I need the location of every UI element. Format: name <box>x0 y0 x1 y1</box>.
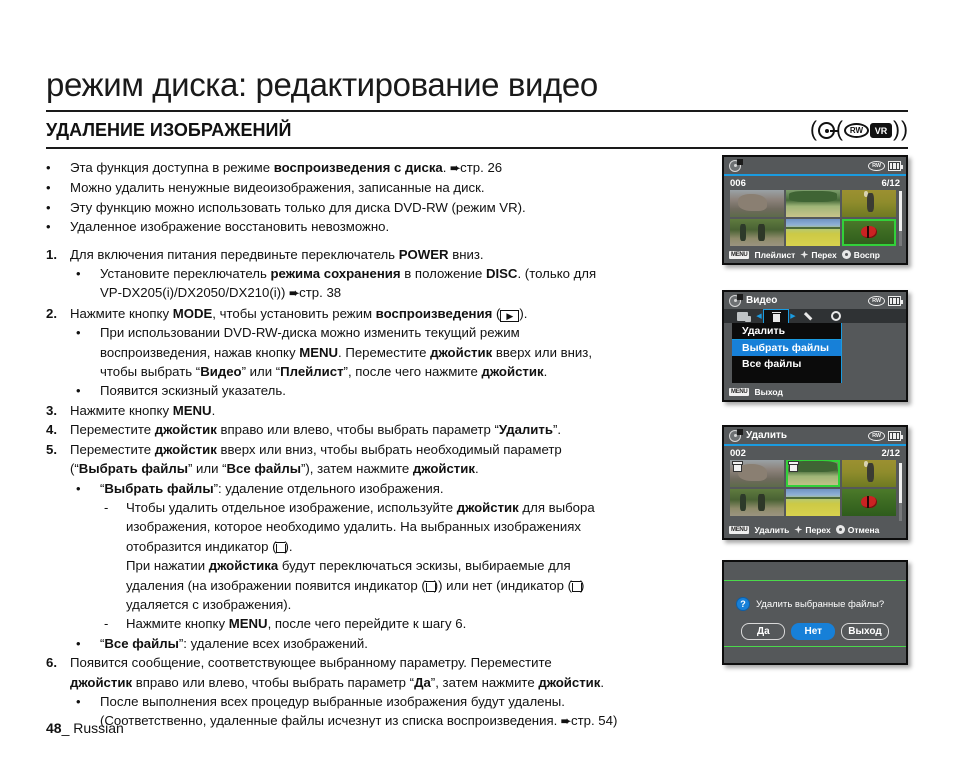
ok-button-icon <box>836 525 845 534</box>
page-position: 6/12 <box>882 178 901 189</box>
instructions-body: • Эта функция доступна в режиме воспроиз… <box>46 158 714 732</box>
page-position: 2/12 <box>882 448 901 459</box>
trash-icon <box>772 312 780 322</box>
lcd-panel-confirm-dialog: ? Удалить выбранные файлы? Да Нет Выход <box>722 560 908 665</box>
scrollbar-track[interactable] <box>899 191 902 247</box>
menu-key-icon[interactable]: MENU <box>729 526 749 534</box>
list-item-text: Можно удалить ненужные видеоизображения,… <box>70 178 714 197</box>
bullet-marker: • <box>76 479 100 498</box>
soft-key-jump[interactable]: Перех <box>794 525 830 535</box>
thumbnail-grid[interactable] <box>724 190 906 246</box>
soft-key-play[interactable]: Воспр <box>842 250 880 260</box>
list-item: • “Все файлы”: удаление всех изображений… <box>76 634 714 653</box>
menu-tab-bar[interactable]: ◀ ▶ <box>724 309 906 323</box>
tab-edit[interactable] <box>797 309 823 323</box>
disc-mode-icon <box>729 295 741 307</box>
disc-eject-icon <box>818 122 835 139</box>
soft-key-cancel[interactable]: Отмена <box>836 525 880 535</box>
thumbnail-grid[interactable] <box>724 460 906 516</box>
rw-disc-icon: RW <box>868 161 885 171</box>
step-text: Для включения питания передвиньте перекл… <box>70 245 714 264</box>
lcd-counters: 002 2/12 <box>724 446 906 460</box>
list-item: • Появится эскизный указатель. <box>76 381 714 400</box>
menu-header: Удалить <box>732 323 841 340</box>
soft-key-jump[interactable]: Перех <box>800 250 836 260</box>
outer-open-paren: ( <box>810 119 817 140</box>
joystick-icon <box>794 526 802 534</box>
dialog-buttons: Да Нет Выход <box>724 611 906 640</box>
list-item-text: Эту функцию можно использовать только дл… <box>70 198 714 217</box>
disc-mode-icon <box>729 160 741 172</box>
list-item-text: Удаленное изображение восстановить невоз… <box>70 217 714 236</box>
trash-indicator-icon <box>426 581 434 591</box>
thumbnail-item[interactable] <box>842 489 896 516</box>
thumbnail-item[interactable] <box>842 190 896 217</box>
step-text: Появится сообщение, соответствующее выбр… <box>70 653 714 692</box>
soft-key-label: Перех <box>811 250 836 260</box>
soft-key-label: Перех <box>805 525 830 535</box>
battery-icon <box>888 296 901 306</box>
lcd-counters: 006 6/12 <box>724 176 906 190</box>
lcd-panel-menu: Видео RW ◀ ▶ Удалить Выбрать файлы Все ф… <box>722 290 908 402</box>
thumbnail-item-selected[interactable] <box>842 219 896 246</box>
sub-list-item-text: Чтобы удалить отдельное изображение, исп… <box>126 498 714 614</box>
footer-language: Russian <box>73 720 124 736</box>
joystick-icon <box>800 251 808 259</box>
thumbnail-item[interactable] <box>730 489 784 516</box>
list-item: • Эта функция доступна в режиме воспроиз… <box>46 158 714 178</box>
rw-disc-icon: RW <box>868 296 885 306</box>
lcd-status-bar: Видео RW <box>724 292 906 309</box>
battery-icon <box>888 431 901 441</box>
thumbnail-item-marked[interactable] <box>730 460 784 487</box>
pencil-icon <box>805 311 816 322</box>
lcd-title: Удалить <box>746 430 787 441</box>
menu-item-all-files[interactable]: Все файлы <box>732 356 841 372</box>
step-text: Нажмите кнопку MODE, чтобы установить ре… <box>70 304 714 323</box>
list-item: • Эту функцию можно использовать только … <box>46 198 714 217</box>
page-title: режим диска: редактирование видео <box>46 66 598 104</box>
menu-item-select-files[interactable]: Выбрать файлы <box>732 340 841 356</box>
bullet-marker: • <box>46 198 70 217</box>
dash-marker: - <box>104 498 126 517</box>
lcd-soft-key-bar: MENU Плейлист Перех Воспр <box>724 246 906 263</box>
rw-badge: RW <box>844 123 869 138</box>
disc-mode-icon <box>729 430 741 442</box>
vr-badge: VR <box>870 123 892 138</box>
bullet-marker: • <box>46 158 70 177</box>
tab-playlist[interactable] <box>729 309 755 323</box>
dialog-message-row: ? Удалить выбранные файлы? <box>724 581 906 611</box>
list-item: • После выполнения всех процедур выбранн… <box>76 692 714 732</box>
lcd-panel-delete-index: Удалить RW 002 2/12 MENU <box>722 425 908 540</box>
soft-key-label: Воспр <box>854 250 880 260</box>
trash-indicator-icon <box>276 542 284 552</box>
dialog-message: Удалить выбранные файлы? <box>756 599 884 610</box>
scrollbar-thumb[interactable] <box>899 191 902 231</box>
footer-page-number: 48 <box>46 720 62 736</box>
outer-close-paren: ) <box>901 119 908 140</box>
soft-key-label: Отмена <box>848 525 880 535</box>
bullet-marker: • <box>76 692 100 711</box>
list-item: • При использовании DVD-RW-диска можно и… <box>76 323 714 381</box>
ok-button-icon <box>842 250 851 259</box>
dash-marker: - <box>104 614 126 633</box>
scrollbar-thumb[interactable] <box>899 463 902 503</box>
dialog-bottom-rule <box>724 646 906 647</box>
yes-button[interactable]: Да <box>741 623 785 640</box>
bullet-marker: • <box>76 264 100 283</box>
soft-key-label[interactable]: Выход <box>754 387 782 397</box>
sub-list-item: - Чтобы удалить отдельное изображение, и… <box>104 498 714 614</box>
list-item-text: “Все файлы”: удаление всех изображений. <box>100 634 714 653</box>
numbered-step: 2. Нажмите кнопку MODE, чтобы установить… <box>46 304 714 323</box>
numbered-step: 3. Нажмите кнопку MENU. <box>46 401 714 420</box>
numbered-step: 5. Переместите джойстик вверх или вниз, … <box>46 440 714 479</box>
footer-separator: _ <box>62 720 70 736</box>
list-item-text: При использовании DVD-RW-диска можно изм… <box>100 323 714 381</box>
step-number: 6. <box>46 653 70 672</box>
tab-delete[interactable] <box>763 309 789 323</box>
tab-settings[interactable] <box>823 309 849 323</box>
lcd-soft-key-bar: MENU Выход <box>724 383 906 400</box>
bullet-marker: • <box>46 178 70 197</box>
list-item-text: Установите переключатель режима сохранен… <box>100 264 714 304</box>
no-button[interactable]: Нет <box>791 623 835 640</box>
menu-key-icon[interactable]: MENU <box>729 251 749 259</box>
scrollbar-track[interactable] <box>899 463 902 521</box>
disc-compatibility-badges: ( ( RW VR ) ) <box>810 120 908 141</box>
numbered-step: 1. Для включения питания передвиньте пер… <box>46 245 714 264</box>
exit-button[interactable]: Выход <box>841 623 888 640</box>
list-item: • Установите переключатель режима сохран… <box>76 264 714 304</box>
list-item-text: Появится эскизный указатель. <box>100 381 714 400</box>
soft-key-label[interactable]: Удалить <box>754 525 789 535</box>
title-divider <box>46 110 908 112</box>
chevron-right-icon: ▶ <box>789 312 797 320</box>
bullet-marker: • <box>76 323 100 342</box>
list-item-text: После выполнения всех процедур выбранные… <box>100 692 714 732</box>
lcd-panel-thumbnail-index: RW 006 6/12 MENU Плейлист <box>722 155 908 265</box>
list-item: • Удаленное изображение восстановить нев… <box>46 217 714 236</box>
step-number: 1. <box>46 245 70 264</box>
step-number: 4. <box>46 420 70 439</box>
trash-indicator-icon <box>572 581 580 591</box>
bullet-marker: • <box>76 634 100 653</box>
thumbnail-item[interactable] <box>842 460 896 487</box>
list-item: • “Выбрать файлы”: удаление отдельного и… <box>76 479 714 498</box>
chevron-left-icon: ◀ <box>755 312 763 320</box>
step-text: Нажмите кнопку MENU. <box>70 401 714 420</box>
sub-list-item: - Нажмите кнопку MENU, после чего перейд… <box>104 614 714 633</box>
menu-key-icon[interactable]: MENU <box>729 388 749 396</box>
bullet-marker: • <box>76 381 100 400</box>
numbered-step: 4. Переместите джойстик вправо или влево… <box>46 420 714 439</box>
lcd-title: Видео <box>746 295 777 306</box>
page-footer: 48_ Russian <box>46 720 124 736</box>
rw-disc-icon: RW <box>868 431 885 441</box>
list-item-text: “Выбрать файлы”: удаление отдельного изо… <box>100 479 714 498</box>
inner-open-paren: ( <box>836 119 843 140</box>
step-number: 5. <box>46 440 70 459</box>
step-text: Переместите джойстик вверх или вниз, что… <box>70 440 714 479</box>
lcd-status-bar: Удалить RW <box>724 427 906 444</box>
gear-icon <box>831 311 841 321</box>
question-icon: ? <box>736 597 750 611</box>
soft-key-label[interactable]: Плейлист <box>754 250 795 260</box>
list-item-text: Эта функция доступна в режиме воспроизве… <box>70 158 714 178</box>
thumbnail-item[interactable] <box>786 489 840 516</box>
thumbnail-item-selected-marked[interactable] <box>786 460 840 487</box>
section-title: УДАЛЕНИЕ ИЗОБРАЖЕНИЙ <box>46 120 291 141</box>
list-item: • Можно удалить ненужные видеоизображени… <box>46 178 714 197</box>
section-divider <box>46 147 908 149</box>
play-mode-icon: ▶ <box>500 310 519 322</box>
thumbnail-item[interactable] <box>730 190 784 217</box>
trash-indicator-icon <box>788 461 796 471</box>
thumbnail-item[interactable] <box>730 219 784 246</box>
lcd-status-bar: RW <box>724 157 906 174</box>
trash-indicator-icon <box>732 461 740 471</box>
bullet-marker: • <box>46 217 70 236</box>
file-counter: 006 <box>730 178 746 189</box>
lcd-soft-key-bar: MENU Удалить Перех Отмена <box>724 521 906 538</box>
menu-list: Удалить Выбрать файлы Все файлы <box>732 323 842 387</box>
thumbnail-item[interactable] <box>786 190 840 217</box>
battery-icon <box>888 161 901 171</box>
numbered-step: 6. Появится сообщение, соответствующее в… <box>46 653 714 692</box>
step-number: 2. <box>46 304 70 323</box>
sub-list-item-text: Нажмите кнопку MENU, после чего перейдит… <box>126 614 714 633</box>
film-icon <box>737 312 748 321</box>
inner-close-paren: ) <box>893 119 900 140</box>
step-text: Переместите джойстик вправо или влево, ч… <box>70 420 714 439</box>
file-counter: 002 <box>730 448 746 459</box>
thumbnail-item[interactable] <box>786 219 840 246</box>
step-number: 3. <box>46 401 70 420</box>
